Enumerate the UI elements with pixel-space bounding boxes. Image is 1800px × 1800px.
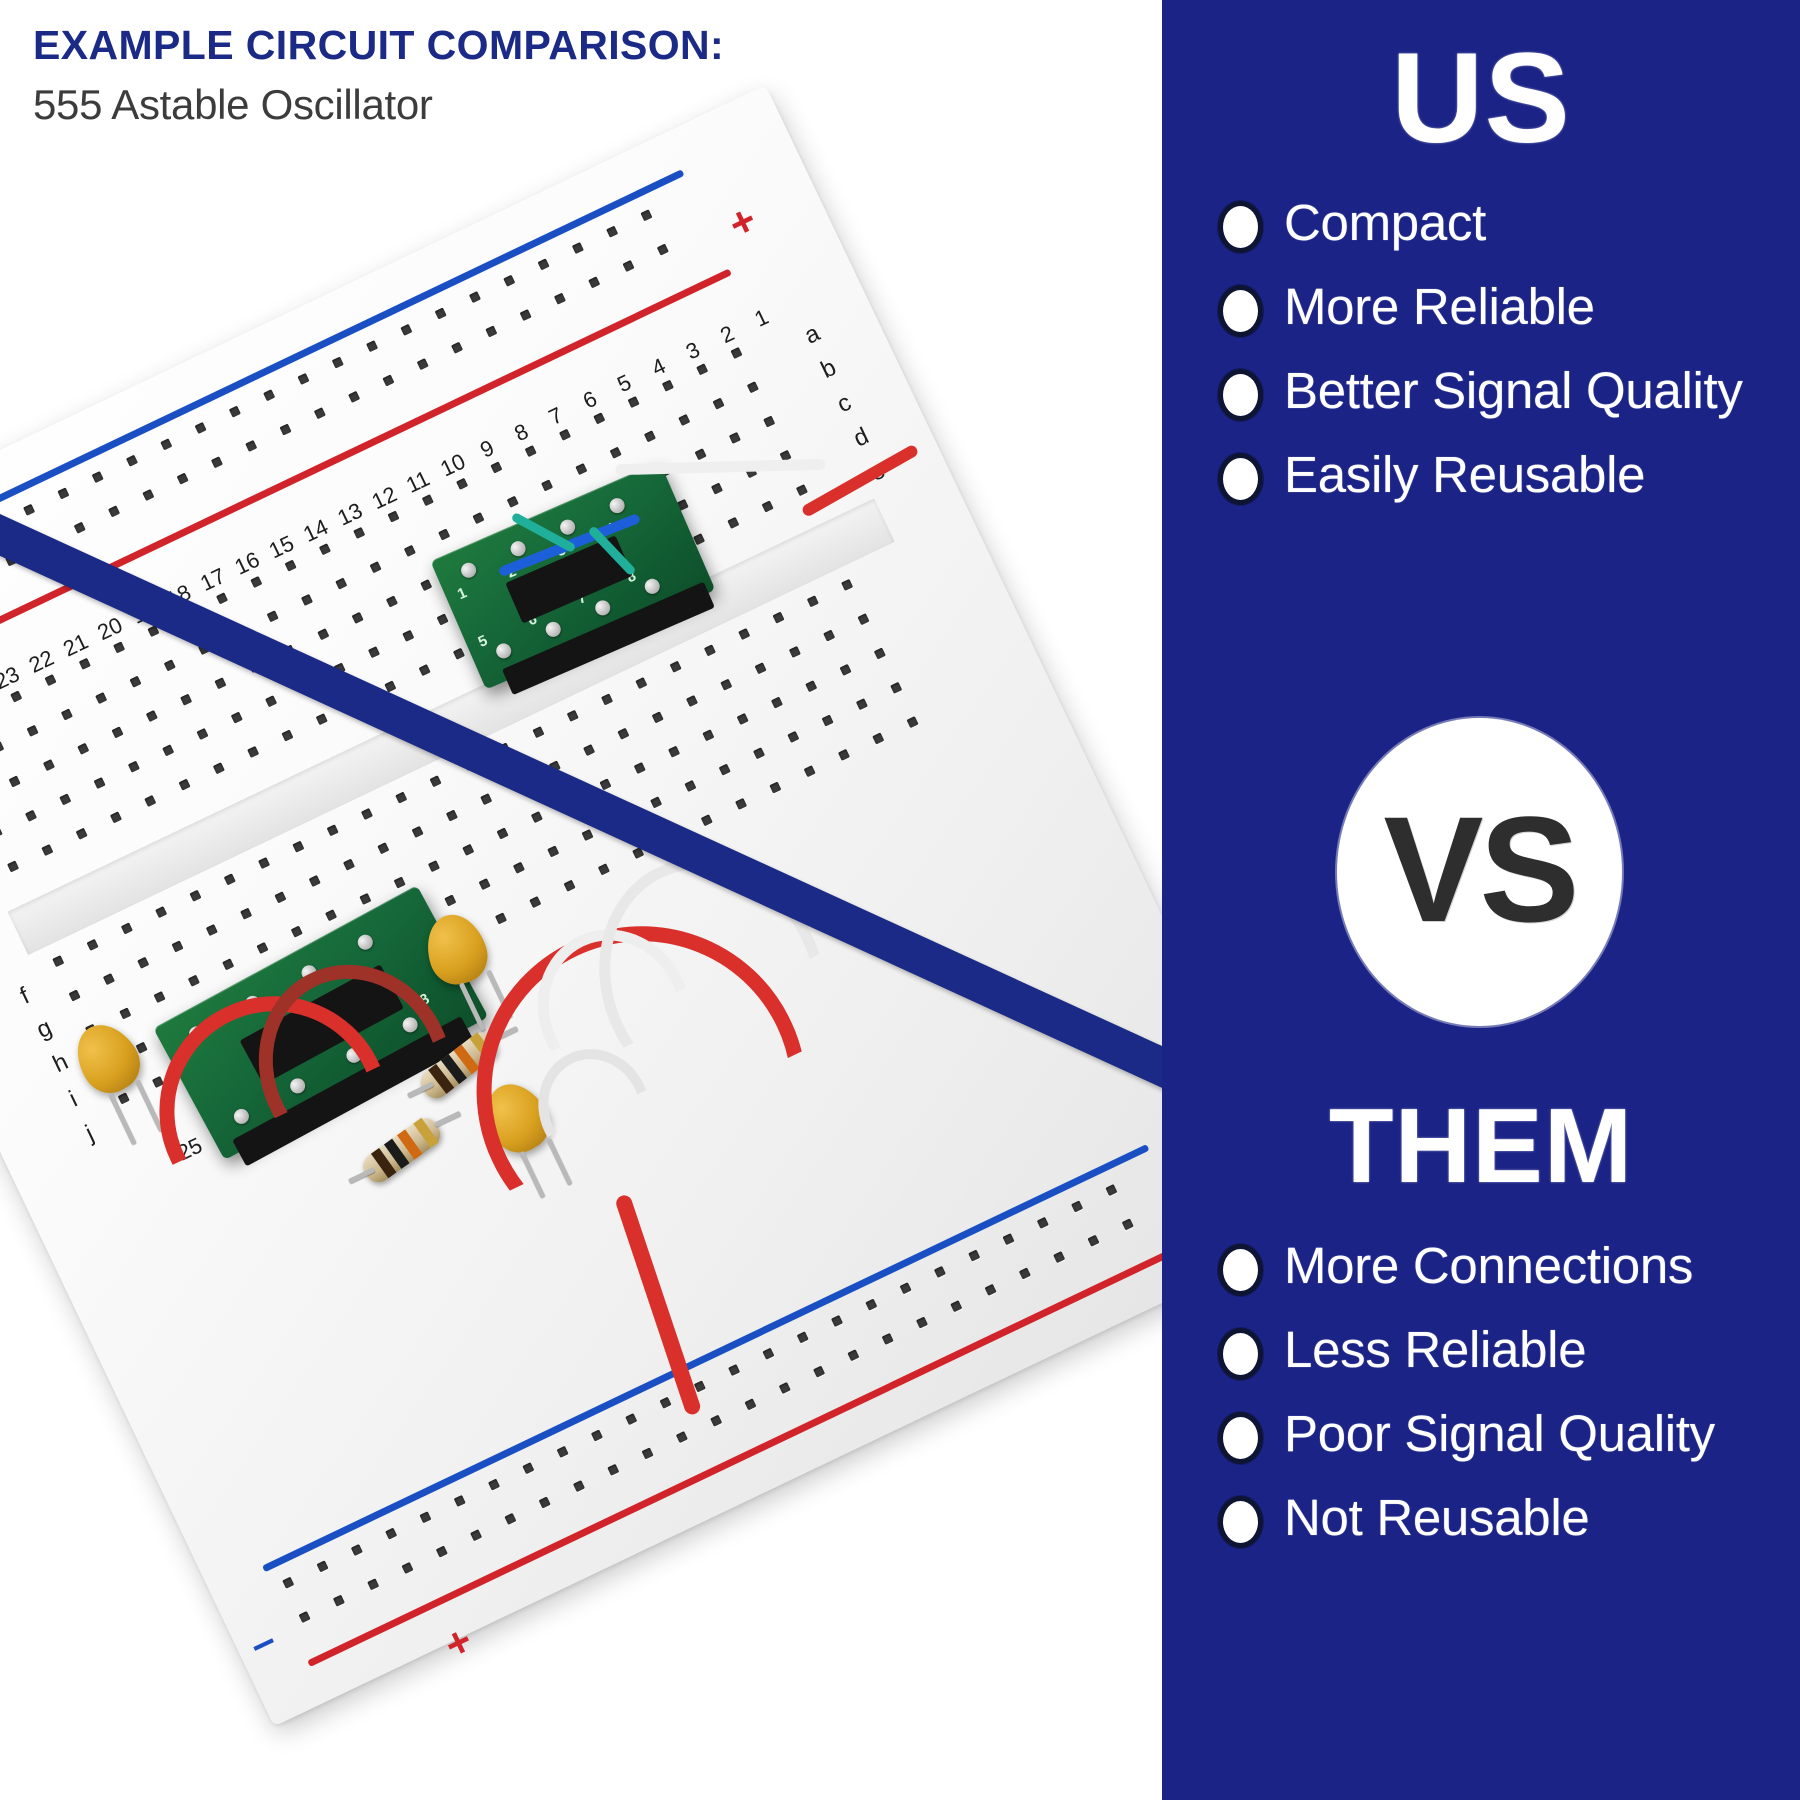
column-label-h: h: [49, 1048, 73, 1079]
page-title: EXAMPLE CIRCUIT COMPARISON:: [33, 22, 724, 69]
column-label-c: c: [833, 389, 856, 419]
top-plus-symbol: +: [721, 195, 764, 249]
us-heading: US: [1162, 35, 1800, 163]
pcb-pad: [494, 641, 514, 661]
bullet-icon: [1218, 285, 1263, 337]
breadboard-photo-area: – +: [0, 0, 1162, 1800]
them-heading: THEM: [1162, 1093, 1800, 1199]
bottom-negative-rail-line: [262, 1144, 1150, 1572]
column-label-a: a: [800, 320, 824, 351]
row-number: 9: [476, 435, 498, 464]
bullet-icon: [1218, 1412, 1263, 1464]
page-subtitle: 555 Astable Oscillator: [33, 81, 724, 129]
pcb-pad: [607, 496, 627, 516]
us-item-label: Better Signal Quality: [1284, 363, 1743, 419]
bullet-icon: [1218, 1244, 1263, 1296]
us-item-label: More Reliable: [1284, 279, 1595, 335]
list-item: Better Signal Quality: [1218, 363, 1778, 421]
column-label-d: d: [849, 422, 873, 453]
vs-label: VS: [1383, 794, 1575, 944]
list-item: Easily Reusable: [1218, 447, 1778, 505]
us-item-label: Easily Reusable: [1284, 447, 1645, 503]
them-item-label: Poor Signal Quality: [1284, 1406, 1715, 1462]
list-item: Poor Signal Quality: [1218, 1406, 1778, 1464]
resistor-2: [358, 1113, 445, 1187]
column-label-i: i: [65, 1086, 82, 1114]
module-pin-label: 5: [476, 632, 490, 651]
bullet-icon: [1218, 369, 1263, 421]
row-number: 6: [579, 386, 601, 415]
list-item: More Reliable: [1218, 279, 1778, 337]
column-label-b: b: [817, 354, 841, 385]
list-item: Less Reliable: [1218, 1322, 1778, 1380]
pcb-pad: [459, 560, 479, 580]
list-item: Not Reusable: [1218, 1490, 1778, 1548]
us-item-label: Compact: [1284, 195, 1486, 251]
row-number: 1: [751, 304, 773, 333]
row-number: 5: [613, 369, 635, 398]
list-item: Compact: [1218, 195, 1778, 253]
column-label-f: f: [16, 982, 34, 1010]
row-number: 3: [682, 337, 704, 366]
pcb-pad: [642, 576, 662, 596]
row-number: 4: [648, 353, 670, 382]
row-number: 7: [545, 402, 567, 431]
bottom-rail-holes: [282, 1172, 1162, 1650]
bullet-icon: [1218, 1328, 1263, 1380]
row-number: 8: [510, 418, 532, 447]
module-pin-label: 1: [455, 584, 469, 603]
pcb-pad: [593, 598, 613, 618]
breadboard-body: – +: [0, 85, 1162, 1726]
vs-badge: VS: [1337, 718, 1622, 1026]
resistor-lead: [434, 1111, 461, 1128]
bullet-icon: [1218, 453, 1263, 505]
pcb-pad: [355, 932, 375, 952]
them-item-label: More Connections: [1284, 1238, 1693, 1294]
comparison-panel: US Compact More Reliable Better Signal Q…: [1162, 0, 1800, 1800]
us-benefits-list: Compact More Reliable Better Signal Qual…: [1218, 195, 1778, 531]
row-number: 2: [716, 320, 738, 349]
bullet-icon: [1218, 1496, 1263, 1548]
them-item-label: Less Reliable: [1284, 1322, 1586, 1378]
pcb-pad: [543, 620, 563, 640]
list-item: More Connections: [1218, 1238, 1778, 1296]
column-label-g: g: [32, 1014, 56, 1045]
pcb-pad: [508, 539, 528, 559]
breadboard-scene: – +: [0, 0, 1162, 1800]
title-block: EXAMPLE CIRCUIT COMPARISON: 555 Astable …: [33, 22, 724, 129]
them-item-label: Not Reusable: [1284, 1490, 1589, 1546]
bottom-plus-symbol: +: [437, 1616, 480, 1670]
bullet-icon: [1218, 201, 1263, 253]
column-label-j: j: [81, 1120, 98, 1148]
them-drawbacks-list: More Connections Less Reliable Poor Sign…: [1218, 1238, 1778, 1574]
pcb-pad: [558, 517, 578, 537]
bottom-minus-symbol: –: [242, 1615, 284, 1668]
